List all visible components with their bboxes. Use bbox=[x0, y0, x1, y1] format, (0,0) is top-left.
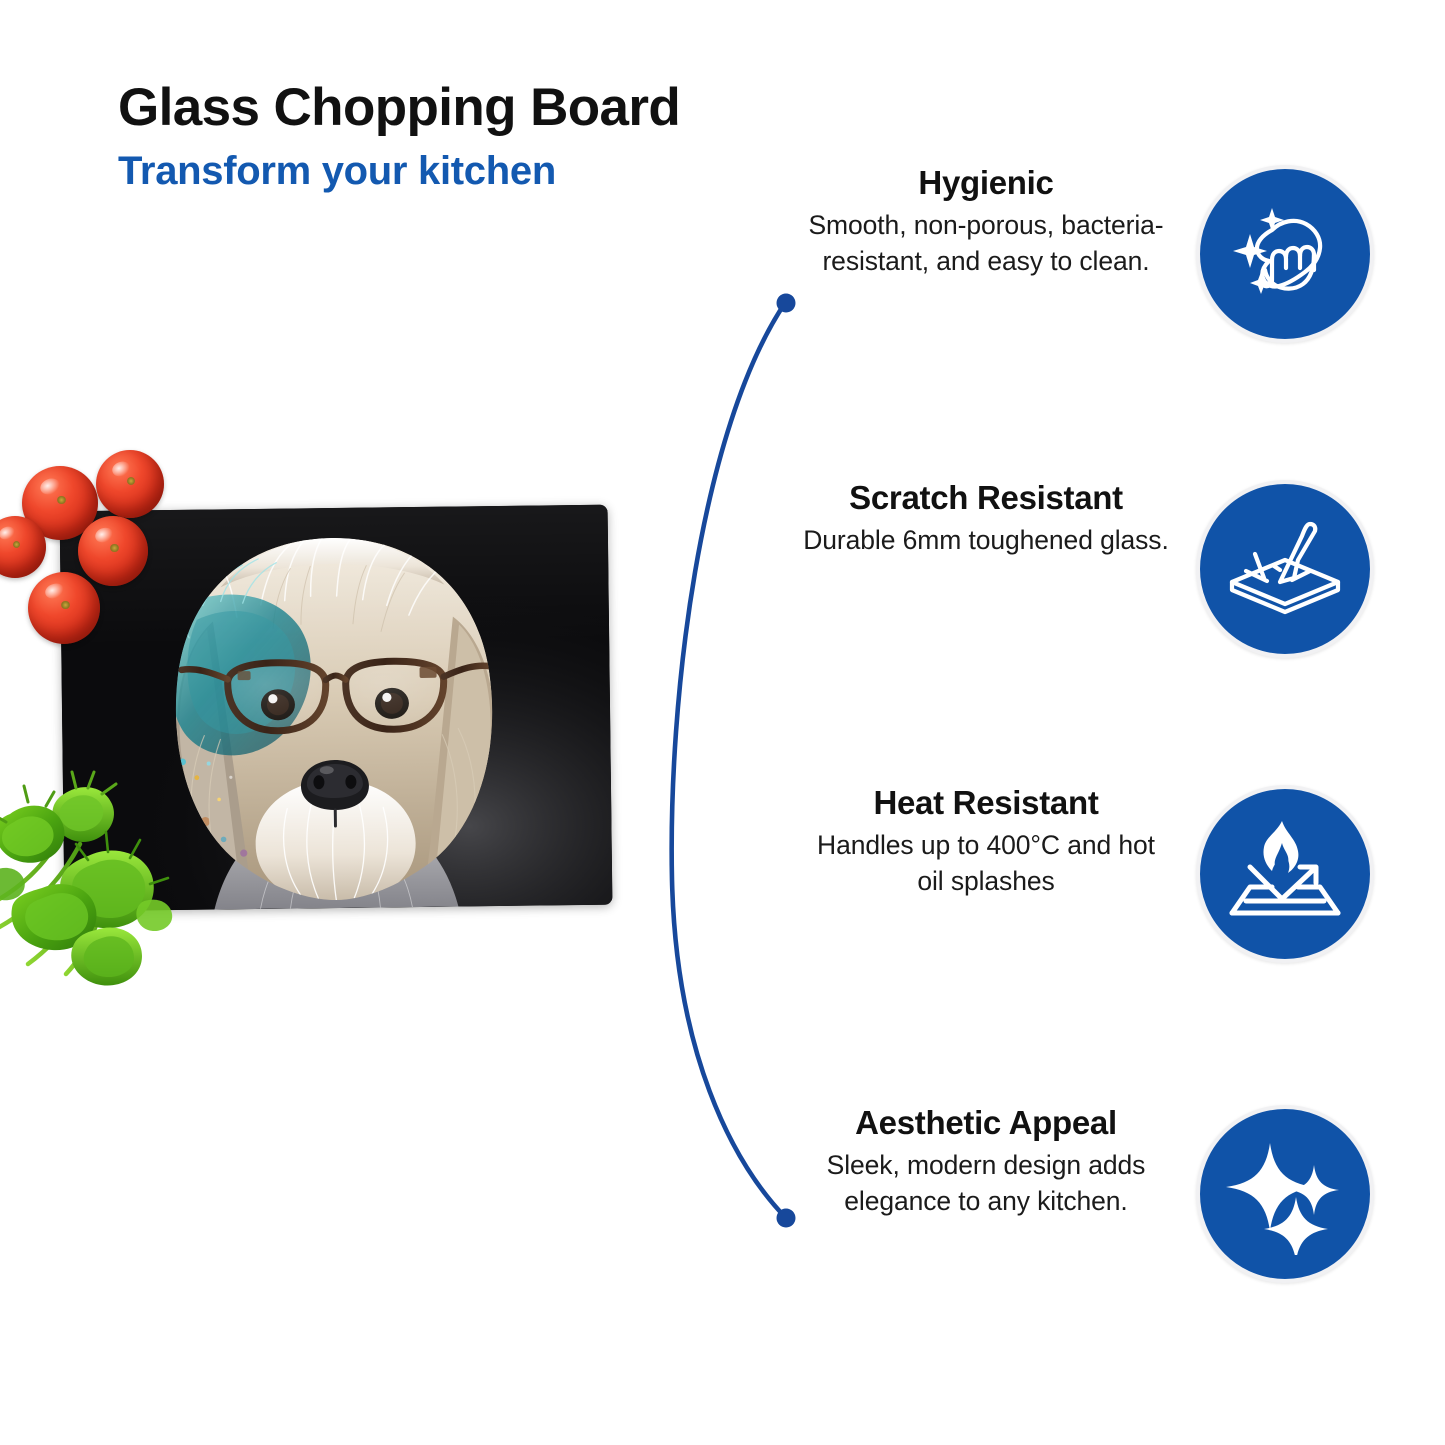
page-title: Glass Chopping Board bbox=[118, 80, 878, 136]
knife-scratch-board-icon bbox=[1224, 508, 1346, 630]
feature-title: Heat Resistant bbox=[802, 785, 1170, 821]
feature-heat-resistant: Heat Resistant Handles up to 400°C and h… bbox=[802, 785, 1362, 995]
hygienic-icon-badge bbox=[1196, 165, 1374, 343]
feature-text-heat-resistant: Heat Resistant Handles up to 400°C and h… bbox=[802, 785, 1170, 899]
feature-text-aesthetic-appeal: Aesthetic Appeal Sleek, modern design ad… bbox=[802, 1105, 1170, 1219]
cherry-tomato bbox=[96, 450, 164, 518]
heat-resistant-icon-badge bbox=[1196, 785, 1374, 963]
feature-scratch-resistant: Scratch Resistant Durable 6mm toughened … bbox=[802, 480, 1362, 690]
feature-aesthetic-appeal: Aesthetic Appeal Sleek, modern design ad… bbox=[802, 1105, 1362, 1315]
product-composition bbox=[0, 440, 640, 1000]
feature-description: Durable 6mm toughened glass. bbox=[802, 523, 1170, 558]
feature-text-scratch-resistant: Scratch Resistant Durable 6mm toughened … bbox=[802, 480, 1170, 559]
aesthetic-anchor-dot bbox=[777, 1209, 796, 1228]
hand-wipe-sparkle-icon bbox=[1225, 194, 1345, 314]
parsley-garnish bbox=[0, 760, 214, 990]
feature-hygienic: Hygienic Smooth, non-porous, bacteria-re… bbox=[802, 165, 1362, 375]
header: Glass Chopping Board Transform your kitc… bbox=[118, 80, 878, 193]
sparkles-icon bbox=[1224, 1133, 1346, 1255]
flame-heat-deflect-icon bbox=[1224, 813, 1346, 935]
feature-description: Smooth, non-porous, bacteria-resistant, … bbox=[802, 208, 1170, 278]
aesthetic-appeal-icon-badge bbox=[1196, 1105, 1374, 1283]
infographic-page: Glass Chopping Board Transform your kitc… bbox=[0, 0, 1445, 1445]
feature-description: Sleek, modern design adds elegance to an… bbox=[802, 1148, 1170, 1218]
feature-text-hygienic: Hygienic Smooth, non-porous, bacteria-re… bbox=[802, 165, 1170, 279]
cherry-tomato bbox=[78, 516, 148, 586]
feature-title: Scratch Resistant bbox=[802, 480, 1170, 516]
page-subtitle: Transform your kitchen bbox=[118, 149, 878, 193]
hygienic-anchor-dot bbox=[777, 294, 796, 313]
feature-title: Aesthetic Appeal bbox=[802, 1105, 1170, 1141]
cherry-tomato bbox=[28, 572, 100, 644]
feature-title: Hygienic bbox=[802, 165, 1170, 201]
feature-description: Handles up to 400°C and hot oil splashes bbox=[802, 828, 1170, 898]
scratch-resistant-icon-badge bbox=[1196, 480, 1374, 658]
